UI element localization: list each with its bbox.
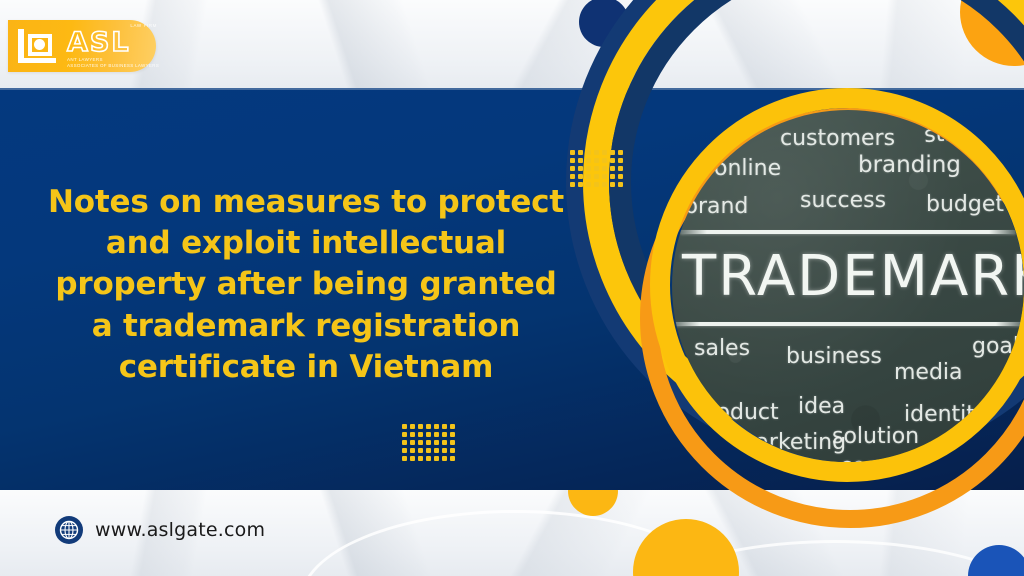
footer-website[interactable]: www.aslgate.com — [55, 516, 265, 544]
chalkboard-divider-top — [680, 230, 1016, 234]
logo-wordmark: LAW FIRM ASL ANT LAWYERS ASSOCIATES OF B… — [67, 24, 159, 69]
chalk-word-customers: customers — [780, 126, 895, 151]
chalk-word-idea: idea — [798, 394, 845, 419]
chalk-word-solution: solution — [832, 424, 919, 449]
globe-icon — [55, 516, 83, 544]
asl-monogram-icon — [18, 29, 60, 63]
chalk-word-sales: sales — [694, 336, 750, 361]
chalk-word-business: business — [786, 344, 882, 369]
chalk-word-marketing: marketing — [734, 430, 846, 455]
page-title: Notes on measures to protect and exploit… — [42, 182, 570, 388]
trademark-chalkboard-photo: customers strategy online branding brand… — [672, 110, 1024, 462]
chalk-word-brand: brand — [684, 194, 748, 219]
decorative-dot-grid-lower — [402, 424, 455, 461]
chalk-word-product: product — [694, 400, 779, 425]
slide-canvas: customers strategy online branding brand… — [0, 0, 1024, 576]
chalkboard-divider-bottom — [672, 322, 1024, 326]
chalk-word-media: media — [894, 360, 963, 385]
website-url[interactable]: www.aslgate.com — [95, 519, 265, 541]
chalk-word-success: success — [800, 188, 886, 213]
chalk-word-online: online — [714, 156, 781, 181]
logo-tagline-top: LAW FIRM — [67, 24, 159, 29]
chalk-word-communication: communication — [840, 454, 1010, 462]
chalk-word-budget: budget — [926, 192, 1004, 217]
chalk-word-branding: branding — [858, 152, 961, 178]
chalk-word-goal: goal — [972, 334, 1019, 359]
logo-text-asl: ASL — [67, 29, 159, 56]
chalk-main-word-trademark: TRADEMARK — [682, 244, 1024, 309]
decorative-dot-grid-upper — [570, 150, 623, 187]
logo-tagline-bottom: ASSOCIATES OF BUSINESS LAWYERS — [67, 64, 159, 69]
asl-logo[interactable]: LAW FIRM ASL ANT LAWYERS ASSOCIATES OF B… — [8, 20, 156, 72]
